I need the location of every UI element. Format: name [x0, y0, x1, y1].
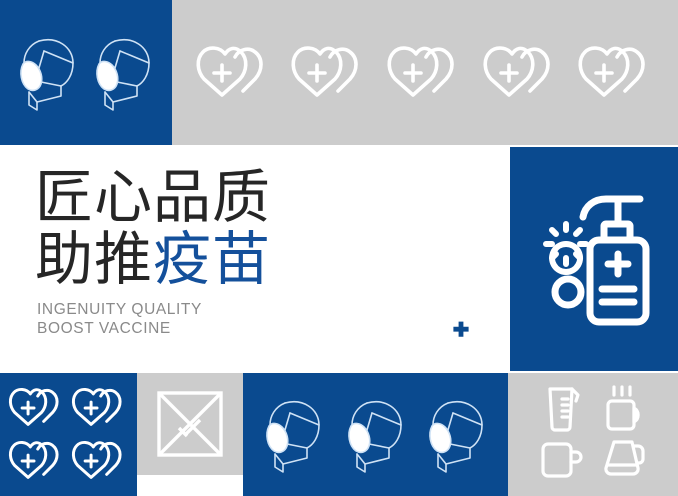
double-heart-plus-icon: [71, 385, 129, 431]
masked-face-icon: [17, 34, 79, 112]
top-mask-panel: [0, 0, 172, 145]
double-heart-plus-icon: [8, 438, 66, 484]
double-heart-plus-icon: [8, 385, 66, 431]
crossed-square-icon: [156, 390, 224, 458]
plus-icon: [450, 320, 472, 342]
mug-icon: [539, 439, 585, 481]
masked-face-icon: [93, 34, 155, 112]
masked-face-icon: [263, 396, 325, 474]
subtitle-text: INGENUITY QUALITY BOOST VACCINE: [37, 301, 271, 338]
double-heart-plus-icon: [71, 438, 129, 484]
bottom-heart-panel: [0, 373, 137, 496]
double-heart-plus-icon: [482, 43, 560, 103]
top-mask-row: [0, 0, 172, 145]
image-placeholder-panel: [137, 373, 243, 475]
container-grid: [508, 373, 678, 496]
top-heart-panel: [172, 0, 678, 145]
hand-sanitizer-bottle-icon: [528, 184, 660, 334]
double-heart-plus-icon: [290, 43, 368, 103]
kettle-icon: [600, 438, 650, 482]
beaker-icon: [541, 385, 583, 433]
poster-canvas: 匠心品质 助推疫苗 INGENUITY QUALITY BOOST VACCIN…: [0, 0, 678, 496]
bottom-mask-row: [243, 373, 508, 496]
placeholder-center: [137, 373, 243, 475]
placeholder-filler: [137, 475, 243, 496]
masked-face-icon: [345, 396, 407, 474]
sanitizer-wrap: [510, 147, 678, 371]
headline-line-2: 助推疫苗: [35, 229, 271, 291]
steaming-cup-icon: [602, 384, 648, 434]
container-grid-panel: [508, 373, 678, 496]
double-heart-plus-icon: [195, 43, 273, 103]
top-heart-row: [172, 0, 678, 145]
masked-face-icon: [426, 396, 488, 474]
headline-block: 匠心品质 助推疫苗 INGENUITY QUALITY BOOST VACCIN…: [35, 167, 271, 338]
double-heart-plus-icon: [577, 43, 655, 103]
double-heart-plus-icon: [386, 43, 464, 103]
headline-line-1: 匠心品质: [35, 167, 271, 229]
headline-line-2-black: 助推: [35, 227, 153, 292]
bottom-mask-panel: [243, 373, 508, 496]
headline-panel: 匠心品质 助推疫苗 INGENUITY QUALITY BOOST VACCIN…: [0, 147, 510, 371]
sanitizer-panel: [510, 147, 678, 371]
bottom-heart-grid: [0, 373, 137, 496]
headline-line-2-accent: 疫苗: [153, 227, 271, 292]
